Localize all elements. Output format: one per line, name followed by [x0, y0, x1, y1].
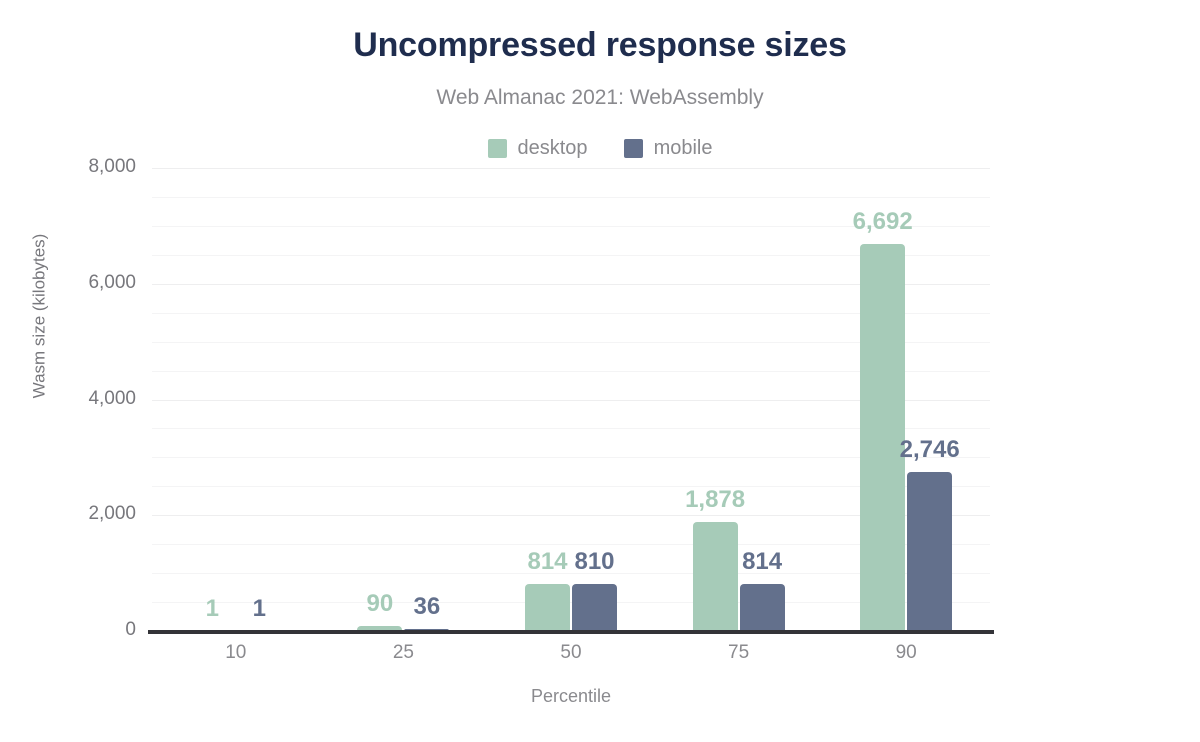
y-axis-title-text: Wasm size (kilobytes): [29, 233, 49, 398]
y-axis-tick-4000: 4,000: [88, 388, 136, 410]
chart-title: Uncompressed response sizes: [0, 24, 1200, 66]
legend-item-mobile[interactable]: mobile: [624, 136, 713, 160]
bar-desktop-p75[interactable]: [693, 522, 738, 631]
bar-mobile-p75[interactable]: [740, 584, 785, 631]
x-axis-line: [148, 630, 994, 634]
bar-label-desktop-p75: 1,878: [655, 486, 775, 514]
bar-mobile-p90[interactable]: [907, 472, 952, 631]
bar-label-mobile-p25: 36: [367, 593, 487, 621]
x-axis-tick-p25: 25: [343, 642, 463, 664]
bar-label-mobile-p50: 810: [535, 548, 655, 576]
bar-desktop-p50[interactable]: [525, 584, 570, 631]
legend-label-desktop: desktop: [518, 136, 588, 160]
chart-legend: desktopmobile: [0, 136, 1200, 160]
bar-label-mobile-p90: 2,746: [870, 436, 990, 464]
gridline-8000: [152, 168, 990, 169]
x-axis-tick-p50: 50: [511, 642, 631, 664]
x-axis-tick-p90: 90: [846, 642, 966, 664]
y-axis-tick-8000: 8,000: [88, 156, 136, 178]
y-axis-title: Wasm size (kilobytes): [22, 0, 56, 631]
y-axis-tick-6000: 6,000: [88, 272, 136, 294]
plot-area: 1190368148101,8788146,6922,746: [152, 168, 990, 631]
x-axis-tick-p10: 10: [176, 642, 296, 664]
legend-swatch-mobile: [624, 139, 643, 158]
gridline-7500: [152, 197, 990, 198]
y-axis-tick-0: 0: [125, 619, 136, 641]
bar-label-desktop-p90: 6,692: [823, 208, 943, 236]
bar-label-mobile-p75: 814: [702, 548, 822, 576]
x-axis-title: Percentile: [152, 686, 990, 707]
y-axis-tick-2000: 2,000: [88, 503, 136, 525]
bar-mobile-p50[interactable]: [572, 584, 617, 631]
legend-label-mobile: mobile: [654, 136, 713, 160]
legend-item-desktop[interactable]: desktop: [488, 136, 588, 160]
bar-label-mobile-p10: 1: [199, 595, 319, 623]
chart-container: Uncompressed response sizes Web Almanac …: [0, 0, 1200, 742]
legend-swatch-desktop: [488, 139, 507, 158]
x-axis-tick-p75: 75: [679, 642, 799, 664]
chart-subtitle: Web Almanac 2021: WebAssembly: [0, 84, 1200, 112]
